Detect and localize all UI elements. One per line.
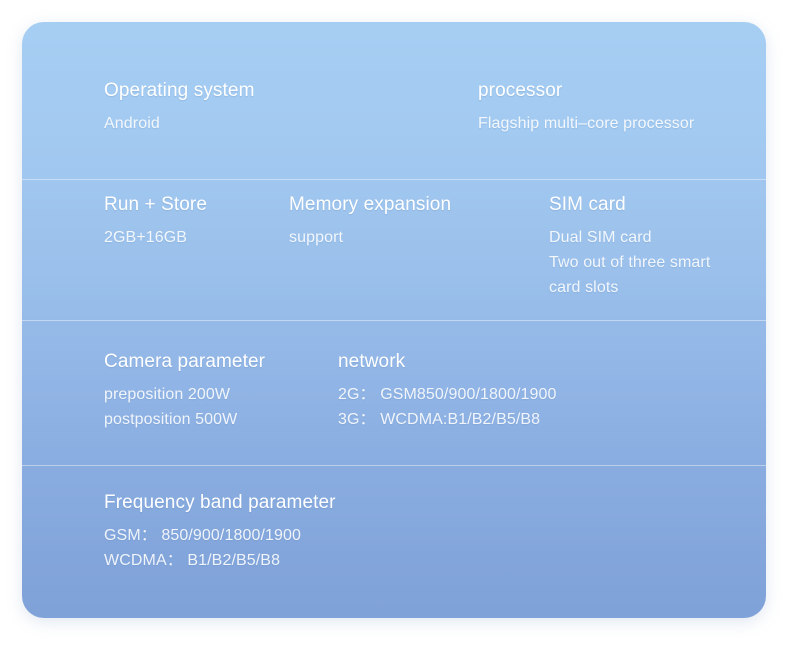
spec-cell-memory-expansion: Memory expansion support [289, 193, 549, 250]
spec-value-sim-card-line-1: Dual SIM card [549, 225, 710, 250]
spec-title-operating-system: Operating system [104, 79, 478, 103]
spec-cell-processor: processor Flagship multi–core processor [478, 79, 694, 136]
spec-value-sim-card-line-2: Two out of three smart [549, 250, 710, 275]
spec-cell-run-store: Run + Store 2GB+16GB [104, 193, 289, 250]
spec-cell-camera-parameter: Camera parameter preposition 200W postpo… [104, 350, 338, 432]
spec-title-processor: processor [478, 79, 694, 103]
spec-row: Camera parameter preposition 200W postpo… [104, 350, 746, 432]
spec-section-memory: Run + Store 2GB+16GB Memory expansion su… [22, 193, 766, 300]
spec-cell-sim-card: SIM card Dual SIM card Two out of three … [549, 193, 710, 300]
spec-title-run-store: Run + Store [104, 193, 289, 217]
section-divider-2 [22, 320, 766, 321]
spec-value-run-store: 2GB+16GB [104, 225, 289, 250]
spec-row: Operating system Android processor Flags… [104, 79, 746, 136]
spec-value-sim-card-line-3: card slots [549, 275, 710, 300]
section-divider-1 [22, 179, 766, 180]
spec-row: Frequency band parameter GSM： 850/900/18… [104, 491, 746, 573]
spec-title-camera-parameter: Camera parameter [104, 350, 338, 374]
spec-value-operating-system: Android [104, 111, 478, 136]
spec-section-frequency-band: Frequency band parameter GSM： 850/900/18… [22, 491, 766, 573]
spec-value-camera-rear: postposition 500W [104, 407, 338, 432]
spec-value-network-2g: 2G： GSM850/900/1800/1900 [338, 382, 557, 407]
spec-row: Run + Store 2GB+16GB Memory expansion su… [104, 193, 746, 300]
section-divider-3 [22, 465, 766, 466]
spec-value-camera-front: preposition 200W [104, 382, 338, 407]
spec-cell-frequency-band-parameter: Frequency band parameter GSM： 850/900/18… [104, 491, 336, 573]
spec-value-band-wcdma: WCDMA： B1/B2/B5/B8 [104, 548, 336, 573]
spec-title-frequency-band-parameter: Frequency band parameter [104, 491, 336, 515]
spec-section-os: Operating system Android processor Flags… [22, 79, 766, 136]
screenshot-stage: Operating system Android processor Flags… [0, 0, 790, 650]
spec-title-network: network [338, 350, 557, 374]
specification-card: Operating system Android processor Flags… [22, 22, 766, 618]
spec-value-network-3g: 3G： WCDMA:B1/B2/B5/B8 [338, 407, 557, 432]
spec-title-sim-card: SIM card [549, 193, 710, 217]
spec-value-memory-expansion: support [289, 225, 549, 250]
spec-value-band-gsm: GSM： 850/900/1800/1900 [104, 523, 336, 548]
spec-section-camera: Camera parameter preposition 200W postpo… [22, 350, 766, 432]
spec-title-memory-expansion: Memory expansion [289, 193, 549, 217]
spec-cell-network: network 2G： GSM850/900/1800/1900 3G： WCD… [338, 350, 557, 432]
spec-value-processor: Flagship multi–core processor [478, 111, 694, 136]
spec-cell-operating-system: Operating system Android [104, 79, 478, 136]
